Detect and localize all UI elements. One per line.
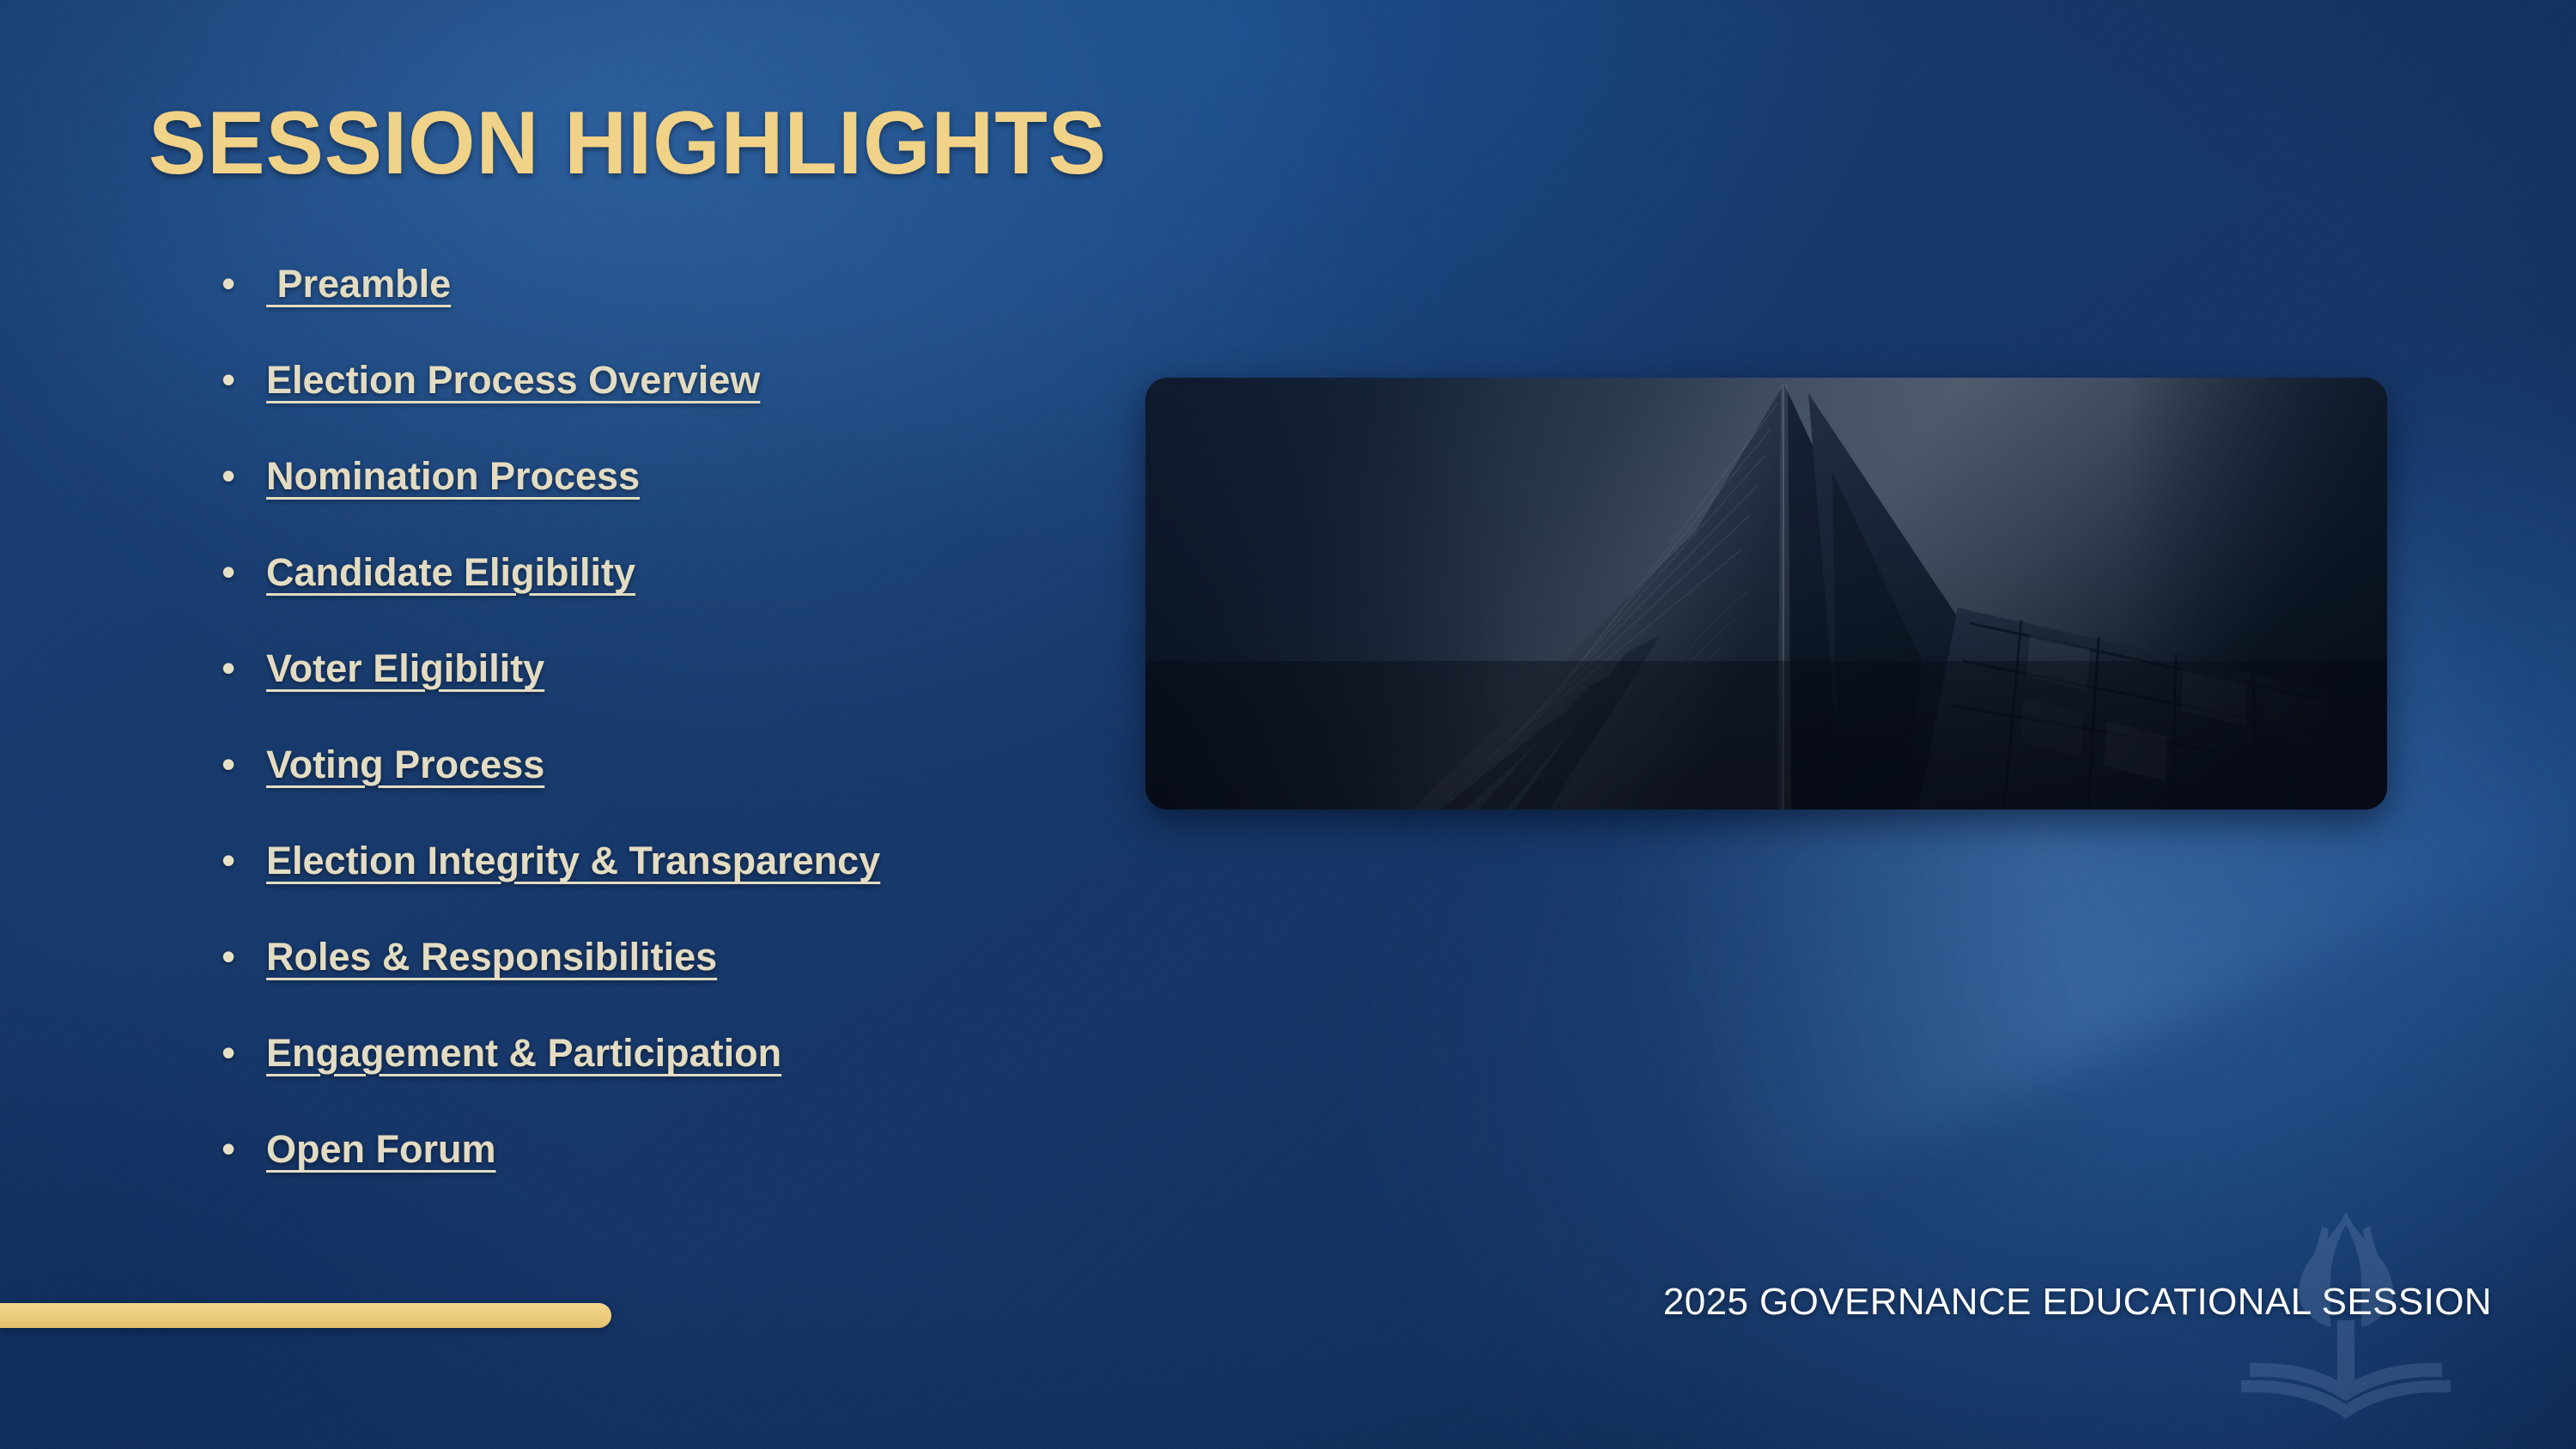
session-highlights-list: • Preamble • Election Process Overview •… <box>222 264 1123 1225</box>
bullet-dot-icon: • <box>222 1129 266 1168</box>
list-item-election-process-overview[interactable]: • Election Process Overview <box>222 360 1123 456</box>
bullet-dot-icon: • <box>222 360 266 399</box>
slide-canvas: SESSION HIGHLIGHTS • Preamble • Election… <box>0 0 2576 1449</box>
list-item-label[interactable]: Open Forum <box>266 1129 496 1171</box>
list-item-open-forum[interactable]: • Open Forum <box>222 1129 1123 1225</box>
list-item-label[interactable]: Engagement & Participation <box>266 1033 781 1075</box>
bullet-dot-icon: • <box>222 1033 266 1072</box>
list-item-voter-eligibility[interactable]: • Voter Eligibility <box>222 648 1123 744</box>
list-item-label[interactable]: Preamble <box>266 264 451 306</box>
list-item-voting-process[interactable]: • Voting Process <box>222 744 1123 840</box>
list-item-label[interactable]: Roles & Responsibilities <box>266 937 717 979</box>
list-item-label[interactable]: Voting Process <box>266 744 544 786</box>
bullet-dot-icon: • <box>222 744 266 784</box>
bullet-dot-icon: • <box>222 456 266 495</box>
footer-session-title: 2025 GOVERNANCE EDUCATIONAL SESSION <box>1663 1281 2492 1324</box>
list-item-election-integrity-transparency[interactable]: • Election Integrity & Transparency <box>222 840 1123 937</box>
list-item-preamble[interactable]: • Preamble <box>222 264 1123 360</box>
list-item-label[interactable]: Election Process Overview <box>266 360 760 402</box>
gold-accent-bar <box>0 1303 611 1328</box>
page-title: SESSION HIGHLIGHTS <box>149 97 1107 191</box>
list-item-engagement-participation[interactable]: • Engagement & Participation <box>222 1033 1123 1129</box>
list-item-nomination-process[interactable]: • Nomination Process <box>222 456 1123 552</box>
list-item-label[interactable]: Voter Eligibility <box>266 648 544 690</box>
bullet-dot-icon: • <box>222 264 266 303</box>
bullet-dot-icon: • <box>222 552 266 591</box>
list-item-roles-responsibilities[interactable]: • Roles & Responsibilities <box>222 937 1123 1033</box>
list-item-label[interactable]: Candidate Eligibility <box>266 552 635 594</box>
bullet-dot-icon: • <box>222 840 266 880</box>
bullet-dot-icon: • <box>222 937 266 976</box>
list-item-label[interactable]: Election Integrity & Transparency <box>266 840 880 882</box>
list-item-label[interactable]: Nomination Process <box>266 456 640 498</box>
bullet-dot-icon: • <box>222 648 266 688</box>
architecture-photo <box>1145 378 2387 809</box>
list-item-candidate-eligibility[interactable]: • Candidate Eligibility <box>222 552 1123 648</box>
